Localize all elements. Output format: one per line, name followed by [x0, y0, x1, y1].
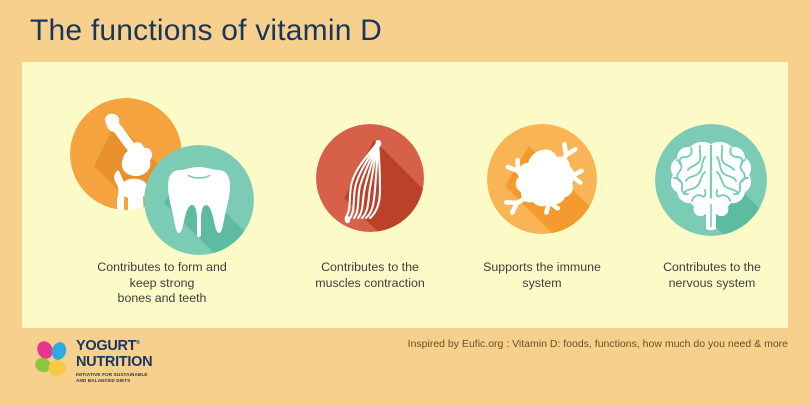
- icon-group-muscles: Contributes to the muscles contraction: [280, 62, 460, 328]
- caption-bones-teeth: Contributes to form and keep strong bone…: [42, 260, 282, 307]
- tooth-icon: [144, 145, 254, 255]
- infographic-canvas: The functions of vitamin D: [0, 0, 810, 405]
- caption-muscles: Contributes to the muscles contraction: [280, 260, 460, 291]
- muscle-fiber-icon: [316, 124, 424, 232]
- registered-mark-icon: ®: [136, 340, 139, 346]
- logo-tagline: INITIATIVE FOR SUSTAINABLE AND BALANCED …: [76, 372, 226, 384]
- attribution-text: Inspired by Eufic.org : Vitamin D: foods…: [408, 338, 788, 350]
- logo-flower-icon: [32, 339, 74, 381]
- icon-group-bones-teeth: Contributes to form and keep strong bone…: [22, 62, 292, 328]
- logo-text-nutrition: NUTRITION: [76, 355, 226, 370]
- immune-icon-circle: [487, 124, 597, 234]
- immune-cell-antibody-icon: [487, 124, 597, 234]
- content-panel: Contributes to form and keep strong bone…: [22, 62, 788, 328]
- tooth-icon-circle: [144, 145, 254, 255]
- muscle-fiber-icon-circle: [316, 124, 424, 232]
- brain-icon: [655, 124, 767, 236]
- icon-group-nervous: Contributes to the nervous system: [622, 62, 802, 328]
- logo-text-yogurt: YOGURT: [76, 338, 136, 354]
- caption-immune: Supports the immune system: [452, 260, 632, 291]
- caption-nervous: Contributes to the nervous system: [622, 260, 802, 291]
- logo-wordmark: YOGURT® NUTRITION INITIATIVE FOR SUSTAIN…: [76, 339, 226, 384]
- brain-icon-circle: [655, 124, 767, 236]
- yogurt-nutrition-logo[interactable]: YOGURT® NUTRITION INITIATIVE FOR SUSTAIN…: [32, 337, 222, 383]
- page-title: The functions of vitamin D: [30, 14, 382, 48]
- icon-group-immune: Supports the immune system: [452, 62, 632, 328]
- logo-line-yogurt: YOGURT®: [76, 339, 226, 354]
